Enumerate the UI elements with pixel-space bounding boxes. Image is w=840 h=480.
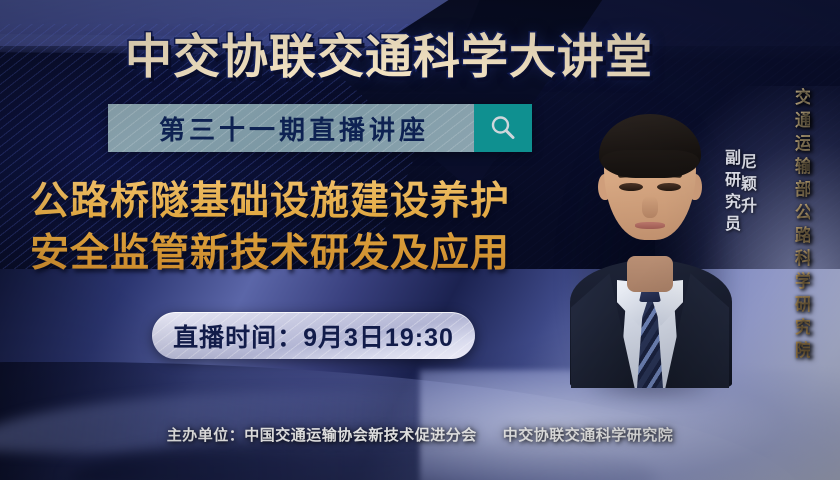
speaker-portrait [575, 88, 725, 388]
portrait-hair-fringe [601, 150, 699, 176]
portrait-eye-right [657, 183, 681, 191]
broadcast-time-badge: 直播时间：9月3日19:30 [152, 312, 475, 359]
search-icon-container[interactable] [474, 104, 532, 152]
organizer-secondary: 中交协联交通科学研究院 [503, 427, 674, 444]
portrait-neck [627, 256, 673, 292]
speaker-credentials: 尼颖升 副研究员 [722, 108, 754, 278]
portrait-eye-left [619, 183, 643, 191]
speaker-organization: 交通运输部公路科学研究院 [793, 88, 810, 364]
search-icon [488, 113, 518, 143]
organizer-primary: 主办单位：中国交通运输协会新技术促进分会 [167, 427, 477, 444]
speaker-name: 尼颖升 [738, 153, 754, 219]
page-title: 中交协联交通科学大讲堂 [125, 18, 653, 87]
portrait-nose [642, 196, 658, 218]
webinar-poster: 中交协联交通科学大讲堂 第三十一期直播讲座 公路桥隧基础设施建设养护 安全监管新… [0, 0, 840, 480]
speaker-title: 副研究员 [722, 149, 738, 237]
lecture-topic-line-1: 公路桥隧基础设施建设养护 [30, 176, 510, 228]
organizer-footer: 主办单位：中国交通运输协会新技术促进分会中交协联交通科学研究院 [0, 424, 840, 445]
portrait-mouth [635, 222, 665, 229]
lecture-topic-line-2: 安全监管新技术研发及应用 [30, 228, 510, 280]
lecture-topic: 公路桥隧基础设施建设养护 安全监管新技术研发及应用 [30, 176, 510, 281]
session-banner: 第三十一期直播讲座 [108, 104, 532, 152]
session-banner-label: 第三十一期直播讲座 [108, 104, 474, 152]
